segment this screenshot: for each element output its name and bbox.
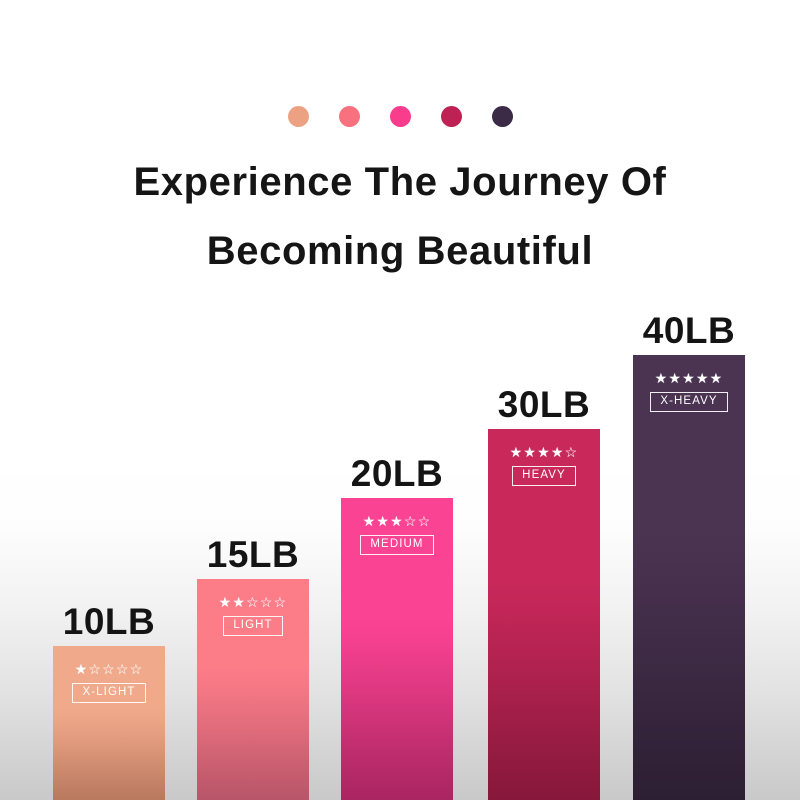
bar-rect[interactable]: ★★☆☆☆LIGHT <box>197 579 309 800</box>
star-rating-icon: ★★★☆☆ <box>363 514 432 528</box>
bar-group-x-light[interactable]: 10LB★☆☆☆☆X-LIGHT <box>53 646 165 800</box>
bar-group-heavy[interactable]: 30LB★★★★☆HEAVY <box>488 429 600 800</box>
resistance-bar-chart: 10LB★☆☆☆☆X-LIGHT15LB★★☆☆☆LIGHT20LB★★★☆☆M… <box>0 0 800 800</box>
bar-rect[interactable]: ★★★★☆HEAVY <box>488 429 600 800</box>
bar-badge: ★★★☆☆MEDIUM <box>341 514 453 555</box>
bar-value-label: 40LB <box>643 312 735 351</box>
bar-rect[interactable]: ★★★★★X-HEAVY <box>633 355 745 800</box>
bar-badge: ★★★★★X-HEAVY <box>633 371 745 412</box>
bar-value-label: 30LB <box>498 386 590 425</box>
resistance-level-label: X-LIGHT <box>72 683 145 703</box>
bar-group-x-heavy[interactable]: 40LB★★★★★X-HEAVY <box>633 355 745 800</box>
resistance-level-label: LIGHT <box>223 616 282 636</box>
bar-badge: ★☆☆☆☆X-LIGHT <box>53 662 165 703</box>
star-rating-icon: ★★☆☆☆ <box>219 595 288 609</box>
star-rating-icon: ★★★★☆ <box>510 445 579 459</box>
bar-group-medium[interactable]: 20LB★★★☆☆MEDIUM <box>341 498 453 800</box>
bar-rect[interactable]: ★☆☆☆☆X-LIGHT <box>53 646 165 800</box>
resistance-level-label: HEAVY <box>512 466 576 486</box>
resistance-level-label: X-HEAVY <box>650 392 727 412</box>
bar-badge: ★★★★☆HEAVY <box>488 445 600 486</box>
bar-group-light[interactable]: 15LB★★☆☆☆LIGHT <box>197 579 309 800</box>
bar-value-label: 20LB <box>351 455 443 494</box>
bar-value-label: 15LB <box>207 536 299 575</box>
star-rating-icon: ★☆☆☆☆ <box>75 662 144 676</box>
bar-value-label: 10LB <box>63 603 155 642</box>
bar-badge: ★★☆☆☆LIGHT <box>197 595 309 636</box>
resistance-level-label: MEDIUM <box>360 535 433 555</box>
resistance-band-infographic: Experience The Journey Of Becoming Beaut… <box>0 0 800 800</box>
star-rating-icon: ★★★★★ <box>655 371 724 385</box>
bar-shadow-overlay <box>633 355 745 800</box>
bar-rect[interactable]: ★★★☆☆MEDIUM <box>341 498 453 800</box>
